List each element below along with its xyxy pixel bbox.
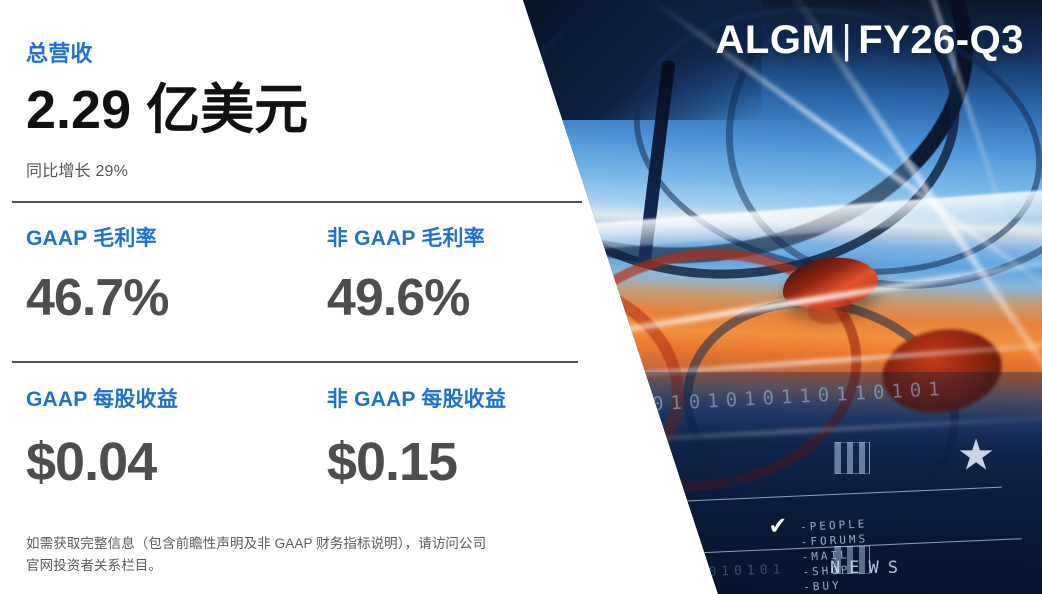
metric-gaap-gross-margin: GAAP 毛利率 46.7% <box>26 222 327 324</box>
metric-label: GAAP 毛利率 <box>26 222 327 252</box>
divider-bottom <box>12 361 578 363</box>
slide-root: 1010101010101010110110101 01010101010101… <box>0 0 1042 594</box>
metric-value: 46.7% <box>26 272 327 324</box>
metric-label: 非 GAAP 毛利率 <box>327 222 586 252</box>
hud-box <box>834 442 870 474</box>
divider-top <box>12 201 582 203</box>
metric-label: GAAP 每股收益 <box>26 383 327 413</box>
hero-label: 总营收 <box>26 36 546 68</box>
world-map-icon: ★ <box>958 420 1024 492</box>
hud-box <box>834 546 870 574</box>
check-icon: ✔ <box>621 423 638 450</box>
metric-non-gaap-gross-margin: 非 GAAP 毛利率 49.6% <box>327 222 586 324</box>
metric-label: 非 GAAP 每股收益 <box>327 383 586 413</box>
metric-non-gaap-eps: 非 GAAP 每股收益 $0.15 <box>327 383 586 489</box>
eps-row: GAAP 每股收益 $0.04 非 GAAP 每股收益 $0.15 <box>26 383 586 489</box>
deck-title-separator: | <box>835 18 858 62</box>
metric-value: 49.6% <box>327 272 586 324</box>
disclaimer-text: 如需获取完整信息（包含前瞻性声明及非 GAAP 财务指标说明），请访问公司官网投… <box>26 533 496 578</box>
hero-value: 2.29 亿美元 <box>26 82 546 139</box>
hero-subtext: 同比增长 29% <box>26 157 546 181</box>
metrics-content: 总营收 2.29 亿美元 同比增长 29% GAAP 毛利率 46.7% 非 G… <box>0 0 600 594</box>
metric-gaap-eps: GAAP 每股收益 $0.04 <box>26 383 327 489</box>
metric-value: $0.15 <box>327 435 586 489</box>
deck-title-period: FY26-Q3 <box>858 18 1024 62</box>
deck-title: ALGM|FY26-Q3 <box>716 18 1024 63</box>
gross-margin-row: GAAP 毛利率 46.7% 非 GAAP 毛利率 49.6% <box>26 222 586 324</box>
deck-title-ticker: ALGM <box>716 18 836 62</box>
hero-metric: 总营收 2.29 亿美元 同比增长 29% <box>26 36 546 181</box>
metric-value: $0.04 <box>26 435 327 489</box>
check-icon: ✔ <box>769 511 786 538</box>
